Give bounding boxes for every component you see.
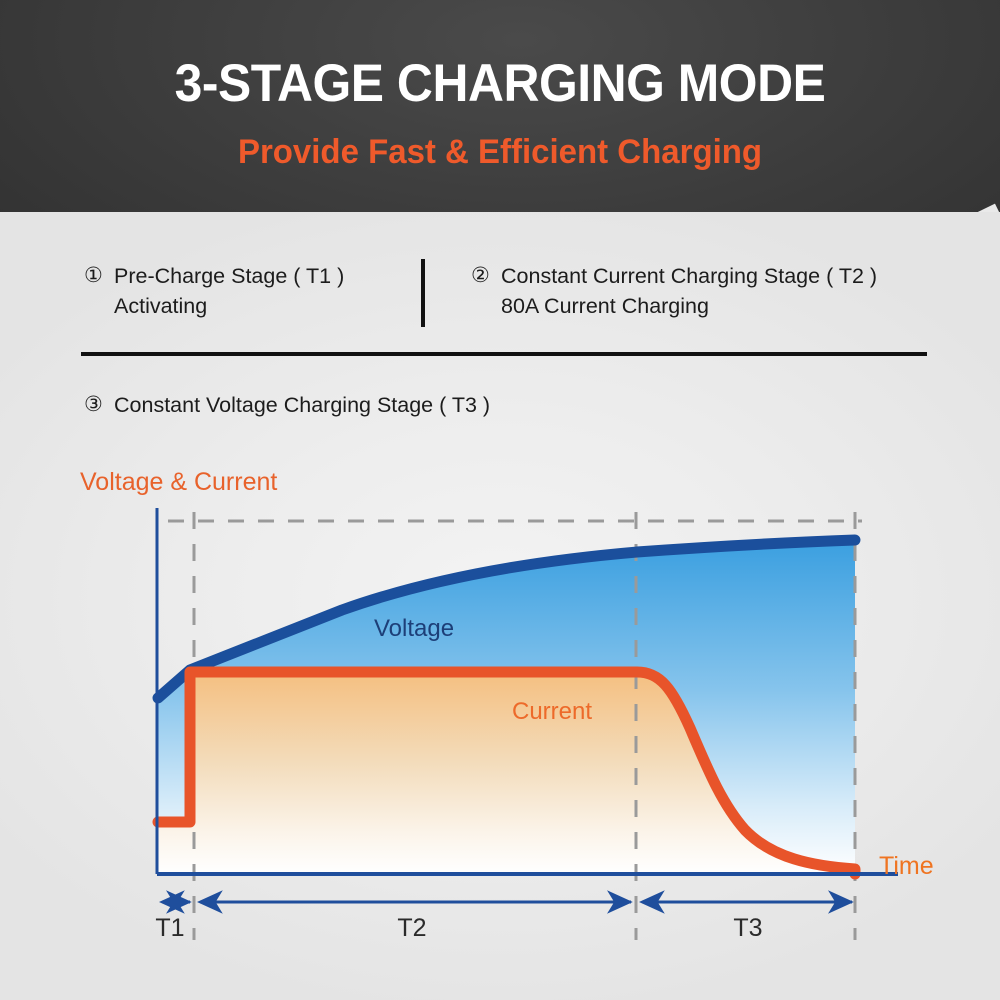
- stage-marker-3: ③: [84, 390, 114, 420]
- t3-stage-label: T3: [718, 914, 778, 943]
- stage-item-3: ③Constant Voltage Charging Stage ( T3 ): [84, 390, 490, 420]
- stage-1-line1: Pre-Charge Stage ( T1 ): [114, 264, 344, 288]
- stage-divider-vertical: [421, 259, 425, 327]
- stage-3-line1: Constant Voltage Charging Stage ( T3 ): [114, 393, 490, 417]
- infographic-page: 3-STAGE CHARGING MODE Provide Fast & Eff…: [0, 0, 1000, 1000]
- stage-divider-horizontal: [81, 352, 927, 356]
- stage-2-line2: 80A Current Charging: [501, 291, 877, 321]
- stage-marker-1: ①: [84, 261, 114, 291]
- stage-2-line1: Constant Current Charging Stage ( T2 ): [501, 264, 877, 288]
- page-title: 3-STAGE CHARGING MODE: [30, 57, 970, 110]
- stage-marker-2: ②: [471, 261, 501, 291]
- t1-stage-label: T1: [145, 914, 195, 943]
- voltage-series-label: Voltage: [374, 615, 454, 643]
- t2-stage-label: T2: [382, 914, 442, 943]
- page-subtitle: Provide Fast & Efficient Charging: [15, 135, 985, 169]
- x-axis-title: Time: [879, 852, 934, 881]
- current-series-label: Current: [512, 698, 592, 726]
- header-banner: 3-STAGE CHARGING MODE Provide Fast & Eff…: [0, 0, 1000, 212]
- stage-item-2: ②Constant Current Charging Stage ( T2 )8…: [471, 261, 877, 321]
- stage-item-1: ①Pre-Charge Stage ( T1 )Activating: [84, 261, 344, 321]
- stage-1-line2: Activating: [114, 291, 344, 321]
